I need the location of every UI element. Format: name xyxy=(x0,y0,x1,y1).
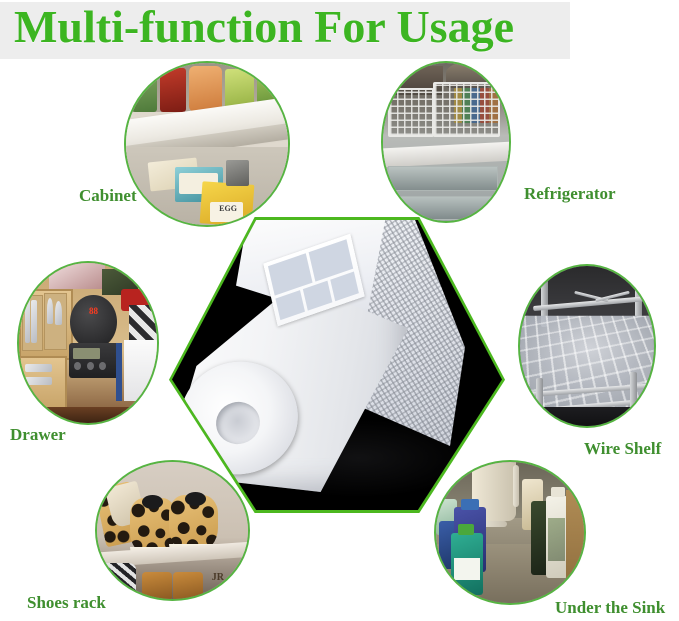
callout-label-drawer: Drawer xyxy=(10,425,66,445)
callout-label-wire-shelf: Wire Shelf xyxy=(584,439,661,459)
callout-label-refrigerator: Refrigerator xyxy=(524,184,616,204)
product-image xyxy=(172,220,502,510)
drawer-photo-art: 88 xyxy=(19,263,157,423)
page-title: Multi-function For Usage xyxy=(14,0,570,55)
cabinet-photo: EGG xyxy=(124,61,290,227)
callout-label-shoes-rack: Shoes rack xyxy=(27,593,106,613)
callout-label-under-the-sink: Under the Sink xyxy=(555,598,665,618)
product-hexagon xyxy=(172,220,502,510)
refrigerator-photo xyxy=(381,61,511,223)
wire-shelf-photo xyxy=(518,264,656,428)
callout-label-cabinet: Cabinet xyxy=(79,186,137,206)
refrigerator-photo-art xyxy=(383,63,509,221)
infographic-canvas: Multi-function For Usage EGG xyxy=(0,0,679,621)
drawer-photo: 88 xyxy=(17,261,159,425)
cabinet-photo-art: EGG xyxy=(126,63,288,225)
wire-shelf-photo-art xyxy=(520,266,654,426)
